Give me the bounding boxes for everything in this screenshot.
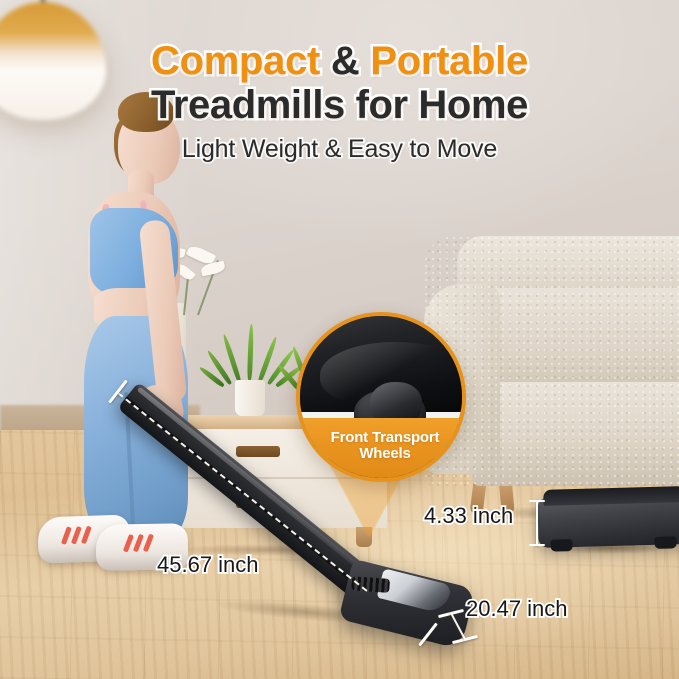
callout-label-text: Front Transport Wheels <box>331 430 440 466</box>
drawer-handle-top <box>236 446 280 457</box>
headline-subtitle: Light Weight & Easy to Move <box>0 135 679 164</box>
treadmill-foot-left <box>550 539 572 552</box>
headline-line-2: Treadmills for Home <box>0 83 679 128</box>
headline-word-compact: Compact <box>151 39 320 83</box>
treadmill-base-belt <box>543 486 679 506</box>
fern-plant <box>219 306 281 416</box>
fern-pot <box>235 380 265 416</box>
treadmill-foot-right <box>654 536 676 549</box>
beige-boucle-sofa <box>430 236 679 526</box>
sofa-seat-cushion <box>472 382 679 486</box>
height-measurement-label: 4.33 inch <box>424 503 513 529</box>
headline-line-1: Compact & Portable <box>0 40 679 83</box>
headline-word-portable: Portable <box>370 39 528 83</box>
front-transport-wheels-callout[interactable]: Front Transport Wheels <box>296 312 466 482</box>
callout-label-band: Front Transport Wheels <box>300 418 466 478</box>
length-measurement-label: 45.67 inch <box>157 552 259 578</box>
headline-block: Compact & Portable Treadmills for Home L… <box>0 40 679 164</box>
width-measurement-label: 20.47 inch <box>466 596 568 622</box>
headline-ampersand: & <box>320 39 370 83</box>
product-marketing-image: 45.67 inch 4.33 inch 20.47 inch Front Tr… <box>0 0 679 679</box>
callout-label-line1: Front Transport <box>331 429 440 446</box>
treadmill-base-under-sofa <box>537 494 679 548</box>
callout-label-line2: Wheels <box>359 445 410 462</box>
height-caliper <box>536 500 538 546</box>
